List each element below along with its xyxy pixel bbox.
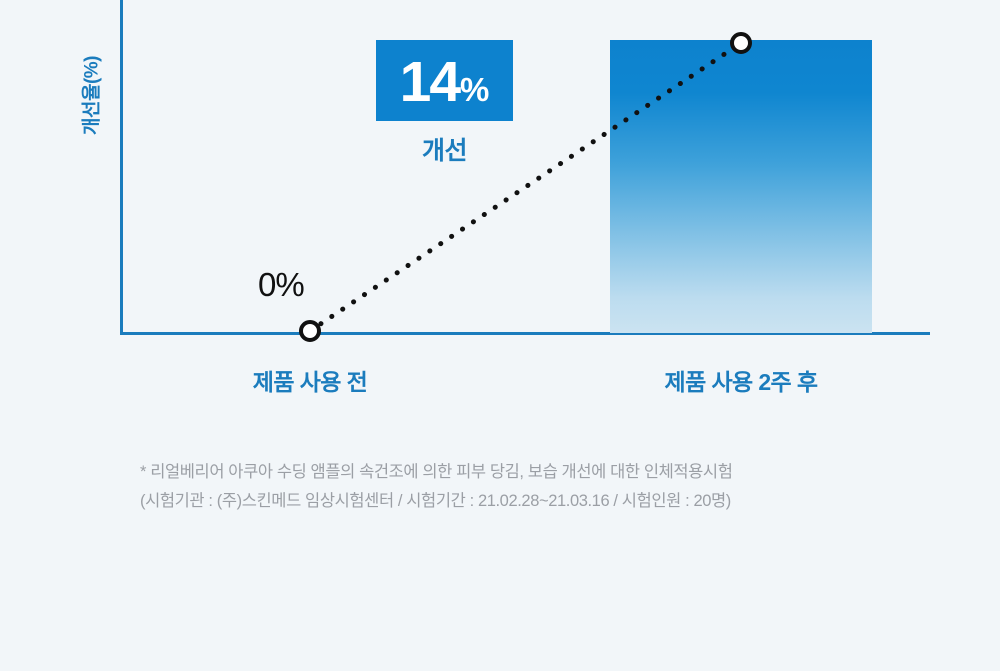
data-point-after (730, 32, 752, 54)
y-axis-line (120, 0, 123, 334)
y-axis-title: 개선율(%) (77, 0, 104, 196)
improvement-badge-caption: 개선 (376, 131, 513, 167)
improvement-badge: 14 % (376, 40, 513, 121)
footnote: * 리얼베리어 아쿠아 수딩 앰플의 속건조에 의한 피부 당김, 보습 개선에… (140, 458, 940, 516)
improvement-badge-inner: 14 % (400, 54, 490, 111)
improvement-badge-percent-sign: % (460, 73, 489, 106)
footnote-line-2: (시험기관 : (주)스킨메드 임상시험센터 / 시험기간 : 21.02.28… (140, 487, 940, 516)
improvement-badge-number: 14 (400, 54, 459, 111)
value-label-before: 0% (258, 266, 304, 304)
category-label-after: 제품 사용 2주 후 (621, 363, 861, 397)
footnote-line-1: * 리얼베리어 아쿠아 수딩 앰플의 속건조에 의한 피부 당김, 보습 개선에… (140, 458, 940, 487)
data-point-before (299, 320, 321, 342)
bar-after-2-weeks (610, 40, 872, 333)
category-label-before: 제품 사용 전 (190, 363, 430, 397)
improvement-rate-chart: 개선율(%) 0% 14 % 개선 제품 사용 전 제품 사용 2주 후 * 리… (0, 0, 1000, 671)
